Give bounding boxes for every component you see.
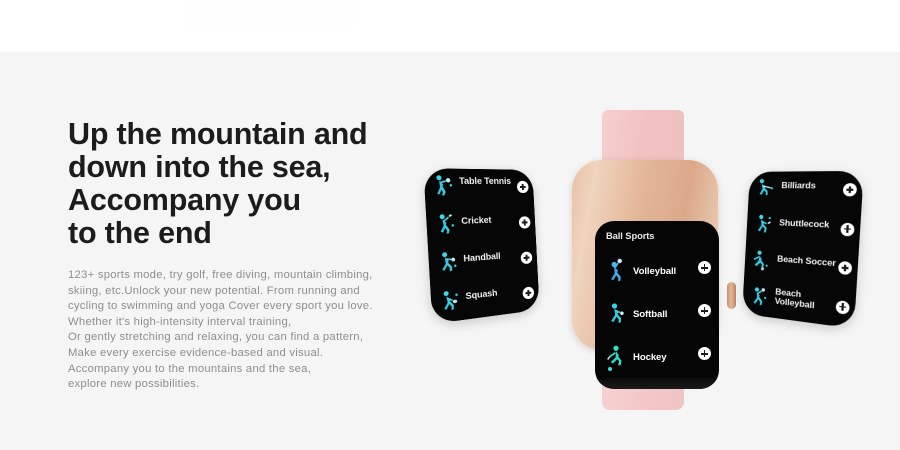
list-item-label: Cricket bbox=[461, 215, 492, 226]
list-item[interactable]: Volleyball bbox=[595, 250, 719, 293]
smartwatch: Ball Sports Volleyball bbox=[560, 110, 750, 410]
body-paragraph: 123+ sports mode, try golf, free diving,… bbox=[68, 268, 448, 393]
volleyball-athlete-icon bbox=[604, 258, 628, 284]
list-item-label: Volleyball bbox=[633, 266, 676, 277]
promo-banner: Up the mountain and down into the sea, A… bbox=[0, 0, 900, 450]
page-title: Up the mountain and down into the sea, A… bbox=[68, 118, 448, 250]
list-item-label: Billiards bbox=[781, 181, 816, 191]
table-tennis-athlete-icon bbox=[431, 174, 456, 201]
beach-soccer-athlete-icon bbox=[750, 248, 772, 274]
add-icon[interactable] bbox=[840, 222, 854, 236]
add-icon[interactable] bbox=[838, 261, 852, 275]
add-icon[interactable] bbox=[843, 183, 858, 196]
sports-panel-right[interactable]: Billiards Shuttlecock bbox=[742, 171, 864, 329]
list-item[interactable]: Softball bbox=[595, 293, 719, 336]
add-icon[interactable] bbox=[520, 251, 532, 264]
list-item-label: Hockey bbox=[633, 352, 667, 363]
sports-panel-left[interactable]: Table Tennis Cricket bbox=[423, 168, 539, 324]
list-item-label: Shuttlecock bbox=[779, 218, 830, 230]
softball-athlete-icon bbox=[604, 301, 628, 327]
add-icon[interactable] bbox=[698, 261, 711, 274]
screen-bottom-bezel bbox=[595, 378, 719, 389]
sports-list-center: Volleyball bbox=[595, 250, 719, 379]
billiards-athlete-icon bbox=[754, 177, 776, 202]
screen-title: Ball Sports bbox=[606, 230, 654, 241]
add-icon[interactable] bbox=[698, 347, 711, 360]
squash-athlete-icon bbox=[437, 288, 462, 317]
list-item[interactable]: Billiards bbox=[748, 171, 864, 211]
beach-volleyball-athlete-icon bbox=[748, 284, 770, 311]
cricket-athlete-icon bbox=[433, 212, 458, 239]
add-icon[interactable] bbox=[517, 181, 529, 193]
hockey-athlete-icon bbox=[604, 344, 628, 370]
watch-case: Ball Sports Volleyball bbox=[572, 160, 718, 350]
list-item-label: Handball bbox=[463, 252, 501, 265]
crown-icon[interactable] bbox=[727, 282, 736, 309]
add-icon[interactable] bbox=[522, 286, 534, 299]
add-icon[interactable] bbox=[836, 300, 850, 315]
copy-block: Up the mountain and down into the sea, A… bbox=[68, 118, 448, 393]
list-item-label: Beach Soccer bbox=[777, 254, 836, 268]
add-icon[interactable] bbox=[519, 216, 531, 229]
top-white-band bbox=[0, 0, 900, 52]
watch-screen[interactable]: Ball Sports Volleyball bbox=[595, 221, 719, 389]
list-item-label: Beach Volleyball bbox=[774, 287, 815, 311]
list-item[interactable]: Hockey bbox=[595, 336, 719, 379]
list-item-label: Softball bbox=[633, 309, 667, 320]
status-dot bbox=[608, 367, 612, 371]
list-item[interactable]: Table Tennis bbox=[423, 168, 534, 207]
add-icon[interactable] bbox=[698, 304, 711, 317]
list-item-label: Squash bbox=[465, 288, 497, 301]
list-item-label: Table Tennis bbox=[459, 176, 511, 186]
handball-athlete-icon bbox=[435, 250, 460, 278]
shuttlecock-athlete-icon bbox=[752, 213, 774, 238]
top-band-artifact bbox=[185, 2, 355, 28]
